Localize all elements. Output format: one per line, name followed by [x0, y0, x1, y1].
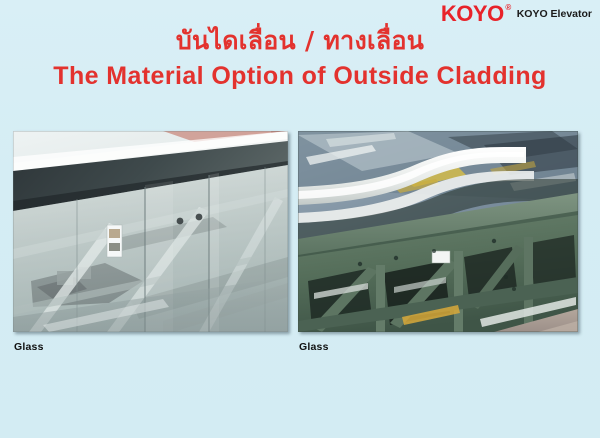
koyo-brand-logo: KOYO ® KOYO Elevator — [441, 3, 592, 25]
slide-title-block: บันไดเลื่อน / ทางเลื่อน The Material Opt… — [0, 26, 600, 90]
slide-title-thai: บันไดเลื่อน / ทางเลื่อน — [0, 26, 600, 57]
koyo-wordmark-text: KOYO — [441, 1, 504, 26]
presentation-slide: KOYO ® KOYO Elevator บันไดเลื่อน / ทางเล… — [0, 0, 600, 438]
caption-left: Glass — [14, 341, 44, 353]
registered-trademark-icon: ® — [505, 4, 510, 12]
photo-right-glass-cladding-factory: Factory view of a green-painted escalato… — [298, 131, 578, 332]
photo-left-glass-cladding-exterior: Exterior view of an escalator truss clad… — [13, 131, 288, 332]
photo-left-image — [13, 131, 288, 332]
koyo-brand-subtitle: KOYO Elevator — [517, 9, 592, 20]
koyo-wordmark: KOYO ® — [441, 3, 510, 25]
caption-right: Glass — [299, 341, 329, 353]
photo-right-image — [298, 131, 578, 332]
slide-title-english: The Material Option of Outside Cladding — [0, 62, 600, 91]
